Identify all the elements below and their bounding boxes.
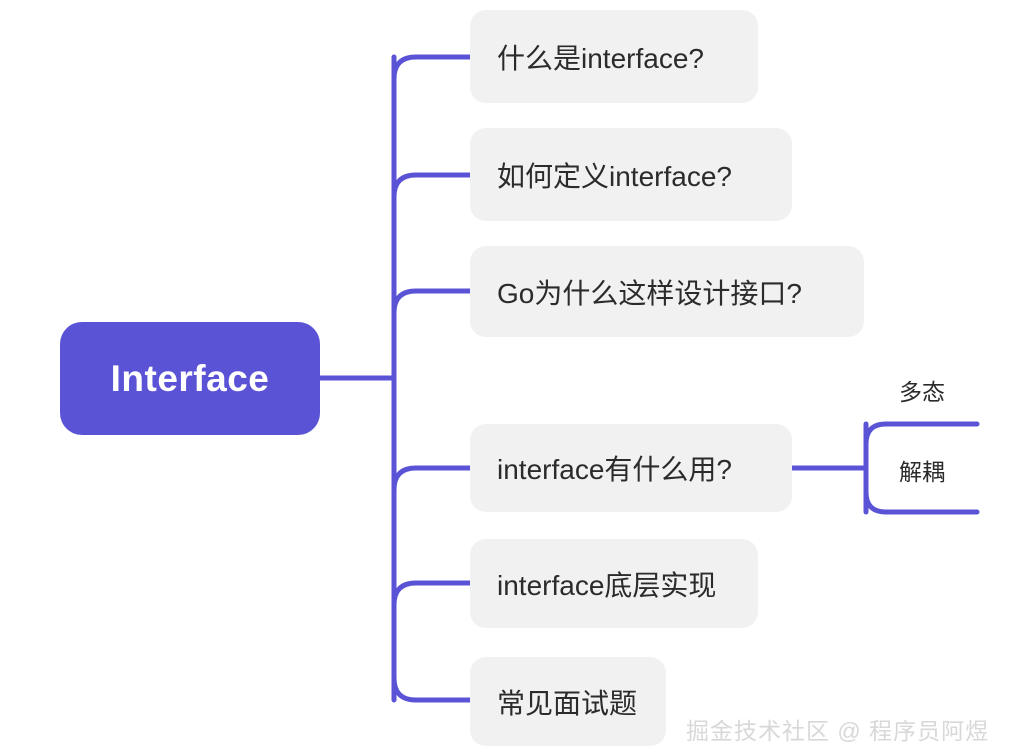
branch-node-3[interactable]: Go为什么这样设计接口? — [470, 246, 864, 337]
root-node-label: Interface — [111, 358, 270, 400]
branch-node-5-label: interface底层实现 — [497, 564, 716, 604]
branch-node-4[interactable]: interface有什么用? — [470, 424, 792, 512]
branch-node-3-label: Go为什么这样设计接口? — [497, 272, 802, 312]
watermark-text: 掘金技术社区 @ 程序员阿煜 — [686, 712, 989, 746]
branch-node-1[interactable]: 什么是interface? — [470, 10, 758, 103]
branch-node-2-label: 如何定义interface? — [497, 155, 732, 195]
mindmap-canvas: Interface 什么是interface? 如何定义interface? G… — [0, 0, 1020, 754]
leaf-node-polymorphism[interactable]: 多态 — [866, 370, 978, 410]
branch-node-4-label: interface有什么用? — [497, 448, 732, 488]
leaf-node-decoupling-label: 解耦 — [899, 453, 945, 487]
branch-node-2[interactable]: 如何定义interface? — [470, 128, 792, 221]
leaf-node-decoupling[interactable]: 解耦 — [866, 450, 978, 490]
leaf-node-polymorphism-label: 多态 — [899, 373, 945, 407]
branch-node-5[interactable]: interface底层实现 — [470, 539, 758, 628]
branch-node-1-label: 什么是interface? — [497, 37, 704, 77]
branch-node-6[interactable]: 常见面试题 — [470, 657, 666, 746]
root-node[interactable]: Interface — [60, 322, 320, 435]
branch-node-6-label: 常见面试题 — [497, 682, 637, 722]
